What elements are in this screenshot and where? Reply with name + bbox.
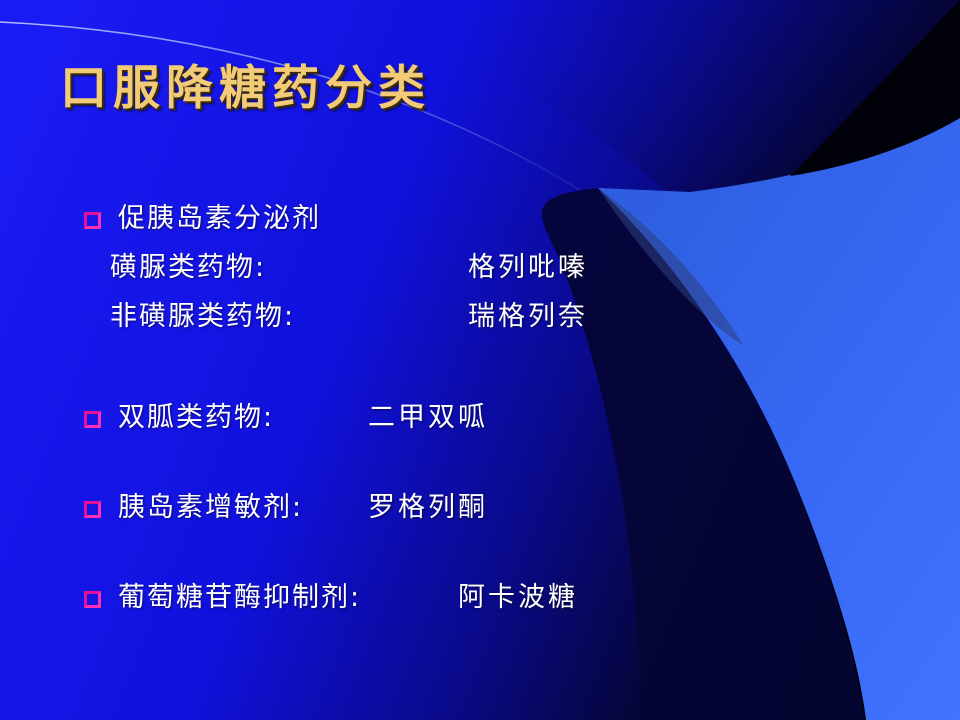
sub-list-item: 非磺脲类药物: 瑞格列奈 — [0, 303, 960, 330]
sub-item-value: 瑞格列奈 — [468, 303, 588, 330]
list-item-value: 罗格列酮 — [368, 494, 488, 521]
square-bullet-icon — [84, 591, 101, 608]
list-item-value: 阿卡波糖 — [458, 584, 578, 611]
list-item-label: 促胰岛素分泌剂 — [118, 205, 321, 232]
spacer — [0, 330, 960, 404]
list-item-label: 葡萄糖苷酶抑制剂: — [118, 584, 458, 611]
list-item: 胰岛素增敏剂: 罗格列酮 — [0, 494, 960, 521]
sub-item-value: 格列吡嗪 — [468, 254, 588, 281]
presentation-slide: 口服降糖药分类 促胰岛素分泌剂 磺脲类药物: 格列吡嗪 非磺脲类药物: 瑞格列奈… — [0, 0, 960, 720]
slide-body: 促胰岛素分泌剂 磺脲类药物: 格列吡嗪 非磺脲类药物: 瑞格列奈 双胍类药物: … — [0, 205, 960, 611]
list-item: 双胍类药物: 二甲双呱 — [0, 404, 960, 431]
list-item-value: 二甲双呱 — [368, 404, 488, 431]
square-bullet-icon — [84, 501, 101, 518]
square-bullet-icon — [84, 411, 101, 428]
sub-item-label: 非磺脲类药物: — [110, 303, 468, 330]
list-item-label: 双胍类药物: — [118, 404, 368, 431]
list-item: 促胰岛素分泌剂 — [0, 205, 960, 232]
slide-title: 口服降糖药分类 — [60, 62, 431, 116]
spacer — [0, 281, 960, 303]
list-item-label: 胰岛素增敏剂: — [118, 494, 368, 521]
sub-item-label: 磺脲类药物: — [110, 254, 468, 281]
list-item: 葡萄糖苷酶抑制剂: 阿卡波糖 — [0, 584, 960, 611]
spacer — [0, 521, 960, 584]
sub-list-item: 磺脲类药物: 格列吡嗪 — [0, 254, 960, 281]
spacer — [0, 431, 960, 494]
spacer — [0, 232, 960, 254]
square-bullet-icon — [84, 212, 101, 229]
